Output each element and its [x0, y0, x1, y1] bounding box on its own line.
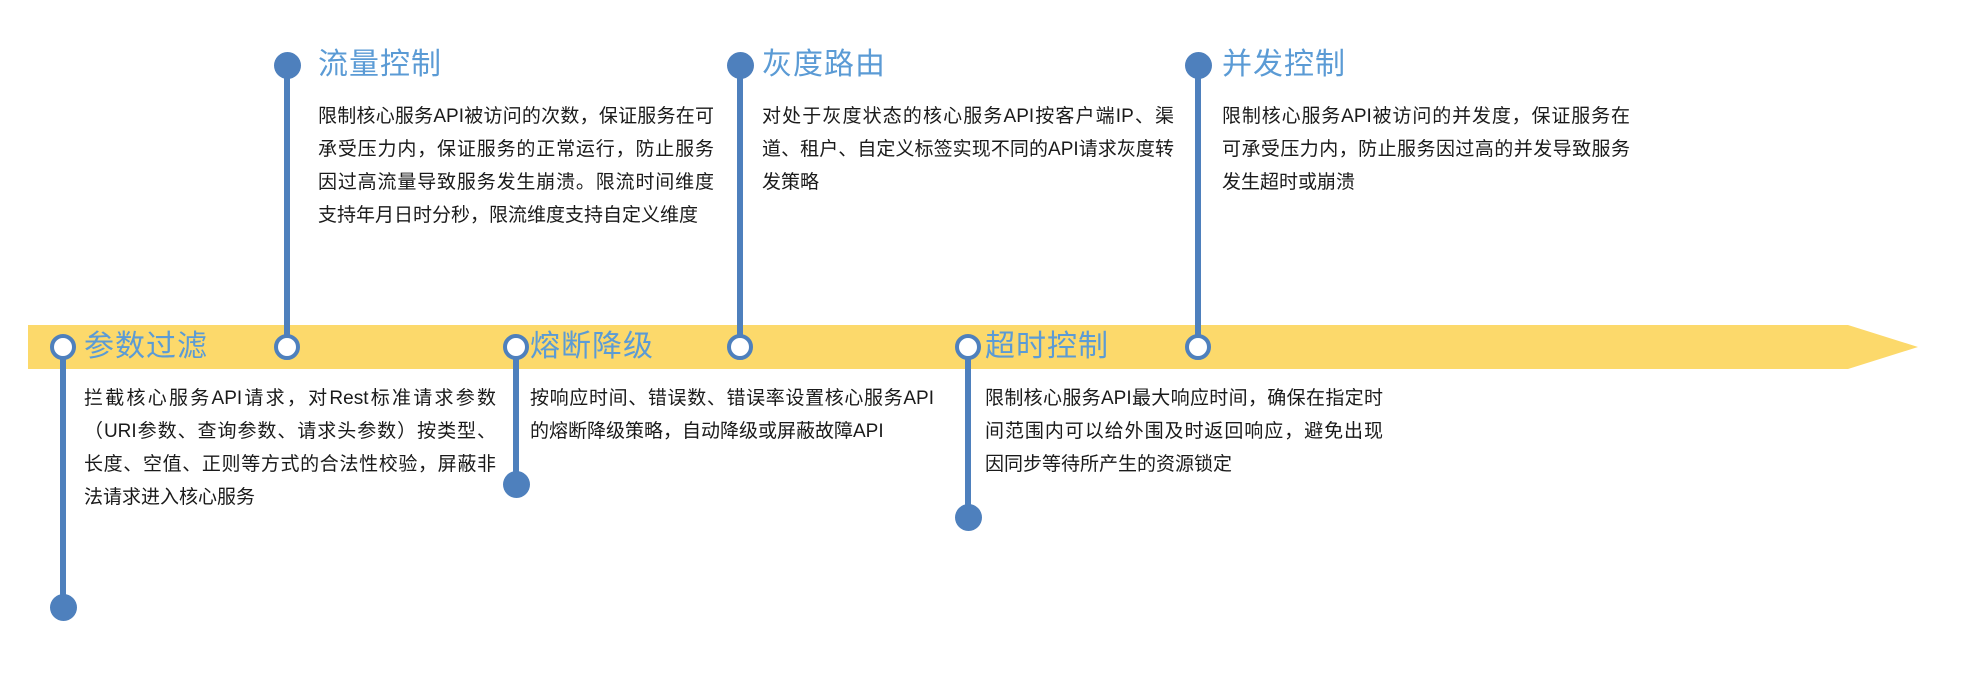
milestone-body-gray-routing: 对处于灰度状态的核心服务API按客户端IP、渠道、租户、自定义标签实现不同的AP…: [762, 100, 1174, 199]
milestone-marker-timeout-control[interactable]: [955, 334, 981, 360]
milestone-body-circuit-breaker: 按响应时间、错误数、错误率设置核心服务API的熔断降级策略，自动降级或屏蔽故障A…: [530, 382, 934, 448]
milestone-block-timeout-control: 超时控制 限制核心服务API最大响应时间，确保在指定时间范围内可以给外围及时返回…: [985, 328, 1383, 481]
milestone-title-param-filter: 参数过滤: [84, 328, 496, 366]
pin-stem-gray-routing: [737, 65, 743, 347]
pin-dot-concurrency-control: [1185, 52, 1212, 79]
milestone-title-flow-control: 流量控制: [318, 46, 714, 84]
pin-stem-timeout-control: [965, 350, 971, 518]
pin-stem-param-filter: [60, 350, 66, 608]
milestone-body-param-filter: 拦截核心服务API请求，对Rest标准请求参数（URI参数、查询参数、请求头参数…: [84, 382, 496, 514]
pin-dot-param-filter: [50, 594, 77, 621]
milestone-title-timeout-control: 超时控制: [985, 328, 1383, 366]
pin-dot-gray-routing: [727, 52, 754, 79]
pin-dot-circuit-breaker: [503, 471, 530, 498]
milestone-title-circuit-breaker: 熔断降级: [530, 328, 934, 366]
pin-dot-flow-control: [274, 52, 301, 79]
milestone-marker-param-filter[interactable]: [50, 334, 76, 360]
milestone-block-flow-control: 流量控制 限制核心服务API被访问的次数，保证服务在可承受压力内，保证服务的正常…: [318, 46, 714, 232]
milestone-block-param-filter: 参数过滤 拦截核心服务API请求，对Rest标准请求参数（URI参数、查询参数、…: [84, 328, 496, 514]
milestone-block-concurrency-control: 并发控制 限制核心服务API被访问的并发度，保证服务在可承受压力内，防止服务因过…: [1222, 46, 1630, 199]
milestone-block-circuit-breaker: 熔断降级 按响应时间、错误数、错误率设置核心服务API的熔断降级策略，自动降级或…: [530, 328, 934, 448]
milestone-body-flow-control: 限制核心服务API被访问的次数，保证服务在可承受压力内，保证服务的正常运行，防止…: [318, 100, 714, 232]
pin-stem-concurrency-control: [1195, 65, 1201, 347]
milestone-title-concurrency-control: 并发控制: [1222, 46, 1630, 84]
milestone-block-gray-routing: 灰度路由 对处于灰度状态的核心服务API按客户端IP、渠道、租户、自定义标签实现…: [762, 46, 1174, 199]
timeline-diagram: 流量控制 限制核心服务API被访问的次数，保证服务在可承受压力内，保证服务的正常…: [0, 0, 1968, 697]
milestone-marker-circuit-breaker[interactable]: [503, 334, 529, 360]
pin-dot-timeout-control: [955, 504, 982, 531]
milestone-title-gray-routing: 灰度路由: [762, 46, 1174, 84]
pin-stem-flow-control: [284, 65, 290, 347]
pin-stem-circuit-breaker: [513, 350, 519, 485]
milestone-body-concurrency-control: 限制核心服务API被访问的并发度，保证服务在可承受压力内，防止服务因过高的并发导…: [1222, 100, 1630, 199]
milestone-body-timeout-control: 限制核心服务API最大响应时间，确保在指定时间范围内可以给外围及时返回响应，避免…: [985, 382, 1383, 481]
